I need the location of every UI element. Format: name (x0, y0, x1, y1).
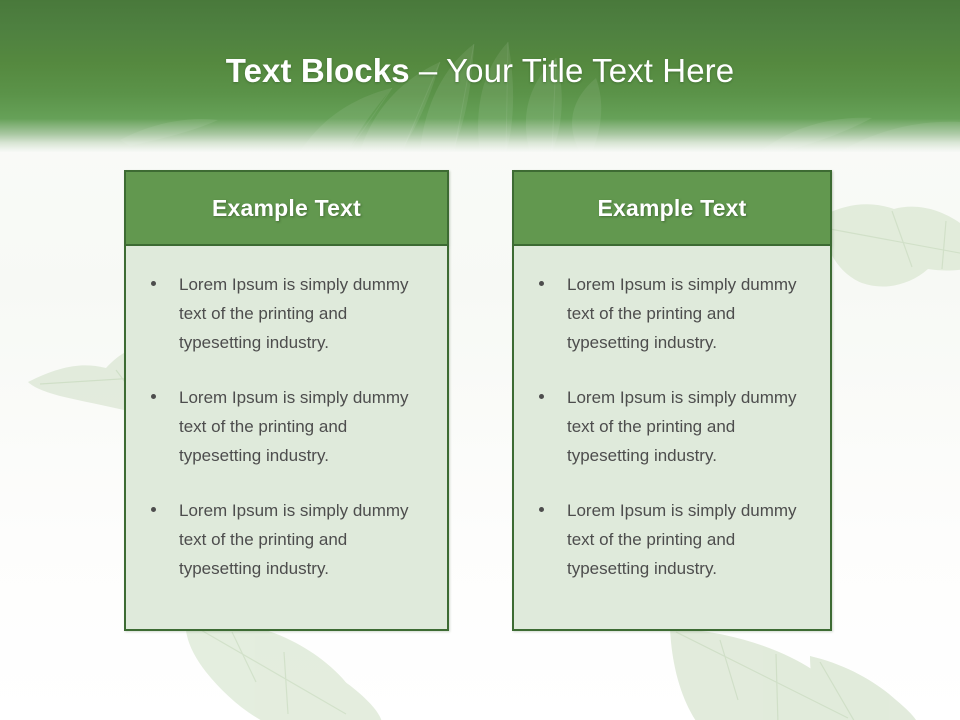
bullet-text: Lorem Ipsum is simply dummy text of the … (179, 496, 433, 583)
bullet-dot-icon (151, 507, 156, 512)
list-item: Lorem Ipsum is simply dummy text of the … (139, 383, 433, 470)
card-header-title-right: Example Text (598, 195, 747, 222)
bullet-dot-icon (539, 507, 544, 512)
bullet-list-right: Lorem Ipsum is simply dummy text of the … (527, 270, 816, 583)
card-header-right[interactable]: Example Text (512, 170, 832, 246)
card-body-right: Lorem Ipsum is simply dummy text of the … (512, 246, 832, 631)
page-title-rest: – Your Title Text Here (410, 52, 735, 89)
list-item: Lorem Ipsum is simply dummy text of the … (527, 496, 816, 583)
bullet-text: Lorem Ipsum is simply dummy text of the … (567, 383, 816, 470)
list-item: Lorem Ipsum is simply dummy text of the … (139, 270, 433, 357)
bullet-text: Lorem Ipsum is simply dummy text of the … (179, 383, 433, 470)
list-item: Lorem Ipsum is simply dummy text of the … (527, 270, 816, 357)
text-block-card-right[interactable]: Example Text Lorem Ipsum is simply dummy… (512, 170, 832, 631)
card-header-left[interactable]: Example Text (124, 170, 449, 246)
bullet-list-left: Lorem Ipsum is simply dummy text of the … (139, 270, 433, 583)
bullet-text: Lorem Ipsum is simply dummy text of the … (179, 270, 433, 357)
card-header-title-left: Example Text (212, 195, 361, 222)
list-item: Lorem Ipsum is simply dummy text of the … (527, 383, 816, 470)
bullet-dot-icon (151, 281, 156, 286)
bullet-dot-icon (151, 394, 156, 399)
bullet-dot-icon (539, 281, 544, 286)
bullet-text: Lorem Ipsum is simply dummy text of the … (567, 270, 816, 357)
header-band: Text Blocks – Your Title Text Here (0, 0, 960, 152)
text-block-card-left[interactable]: Example Text Lorem Ipsum is simply dummy… (124, 170, 449, 631)
bullet-text: Lorem Ipsum is simply dummy text of the … (567, 496, 816, 583)
page-title: Text Blocks – Your Title Text Here (0, 50, 960, 92)
card-body-left: Lorem Ipsum is simply dummy text of the … (124, 246, 449, 631)
page-title-bold: Text Blocks (226, 52, 410, 89)
slide-canvas: Text Blocks – Your Title Text Here Examp… (0, 0, 960, 720)
list-item: Lorem Ipsum is simply dummy text of the … (139, 496, 433, 583)
bullet-dot-icon (539, 394, 544, 399)
